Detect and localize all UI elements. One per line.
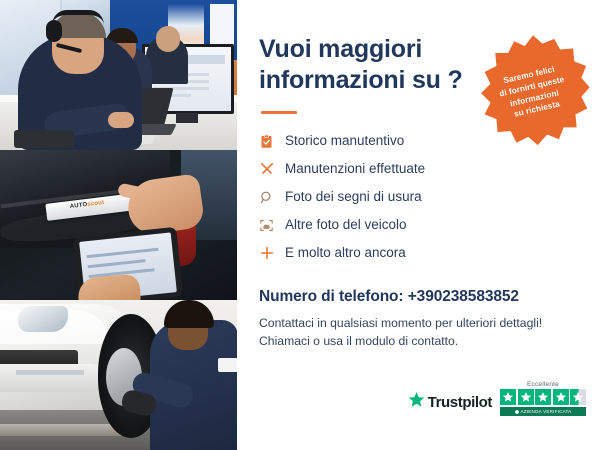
clipboard-check-icon [259, 134, 285, 149]
list-item: Altre foto del veicolo [259, 212, 584, 238]
callout-badge-text: Saremo felici di fornirti queste informa… [483, 59, 583, 125]
callout-badge: Saremo felici di fornirti queste informa… [474, 33, 592, 151]
contact-line-1: Contattaci in qualsiasi momento per ulte… [259, 314, 584, 332]
plus-icon [259, 245, 285, 261]
list-item-label: Altre foto del veicolo [285, 218, 407, 232]
phone-line: Numero di telefono: +390238583852 [259, 288, 584, 306]
car-scan-frame-icon [259, 218, 285, 233]
phone-number[interactable]: +390238583852 [408, 288, 519, 305]
phone-label: Numero di telefono: [259, 288, 404, 305]
list-item-label: E molto altro ancora [285, 246, 406, 260]
trustpilot-score-block: Eccellente AZIENDA VERIFICATA [500, 381, 586, 416]
verified-company-badge: AZIENDA VERIFICATA [500, 407, 586, 416]
contact-subtext: Contattaci in qualsiasi momento per ulte… [259, 314, 584, 351]
trustpilot-wordmark: Trustpilot [428, 394, 492, 411]
trustpilot-rating-label: Eccellente [527, 381, 559, 388]
list-item-label: Storico manutentivo [285, 134, 404, 148]
photo-column: AUTOscout [0, 0, 237, 450]
content-panel: Vuoi maggiori informazioni su ? Storico … [237, 0, 600, 450]
verified-badge-text: AZIENDA VERIFICATA [521, 409, 572, 414]
garage-wheel-check-photo [0, 300, 237, 450]
check-circle-icon [515, 410, 519, 414]
trustpilot-rating[interactable]: Trustpilot Eccellente AZIENDA VERIFICATA [408, 381, 586, 416]
list-item: E molto altro ancora [259, 240, 584, 266]
star-icon [553, 389, 569, 405]
star-rating [500, 389, 586, 405]
page-title: Vuoi maggiori informazioni su ? [259, 0, 464, 95]
trustpilot-star-icon [408, 391, 425, 413]
star-icon [535, 389, 551, 405]
magnifier-icon [259, 190, 285, 205]
vehicle-inspection-photo: AUTOscout [0, 150, 237, 300]
title-divider [261, 111, 297, 114]
list-item-label: Foto dei segni di usura [285, 190, 422, 204]
star-icon-half [570, 389, 586, 405]
call-center-agents-photo [0, 0, 237, 150]
list-item-label: Manutenzioni effettuate [285, 162, 425, 176]
list-item: Foto dei segni di usura [259, 184, 584, 210]
contact-line-2: Chiamaci o usa il modulo di contatto. [259, 332, 584, 350]
star-icon [518, 389, 534, 405]
trustpilot-logo: Trustpilot [408, 391, 492, 416]
star-icon [500, 389, 516, 405]
promo-banner: AUTOscout [0, 0, 600, 450]
tools-wrench-screwdriver-icon [259, 161, 285, 177]
list-item: Manutenzioni effettuate [259, 156, 584, 182]
